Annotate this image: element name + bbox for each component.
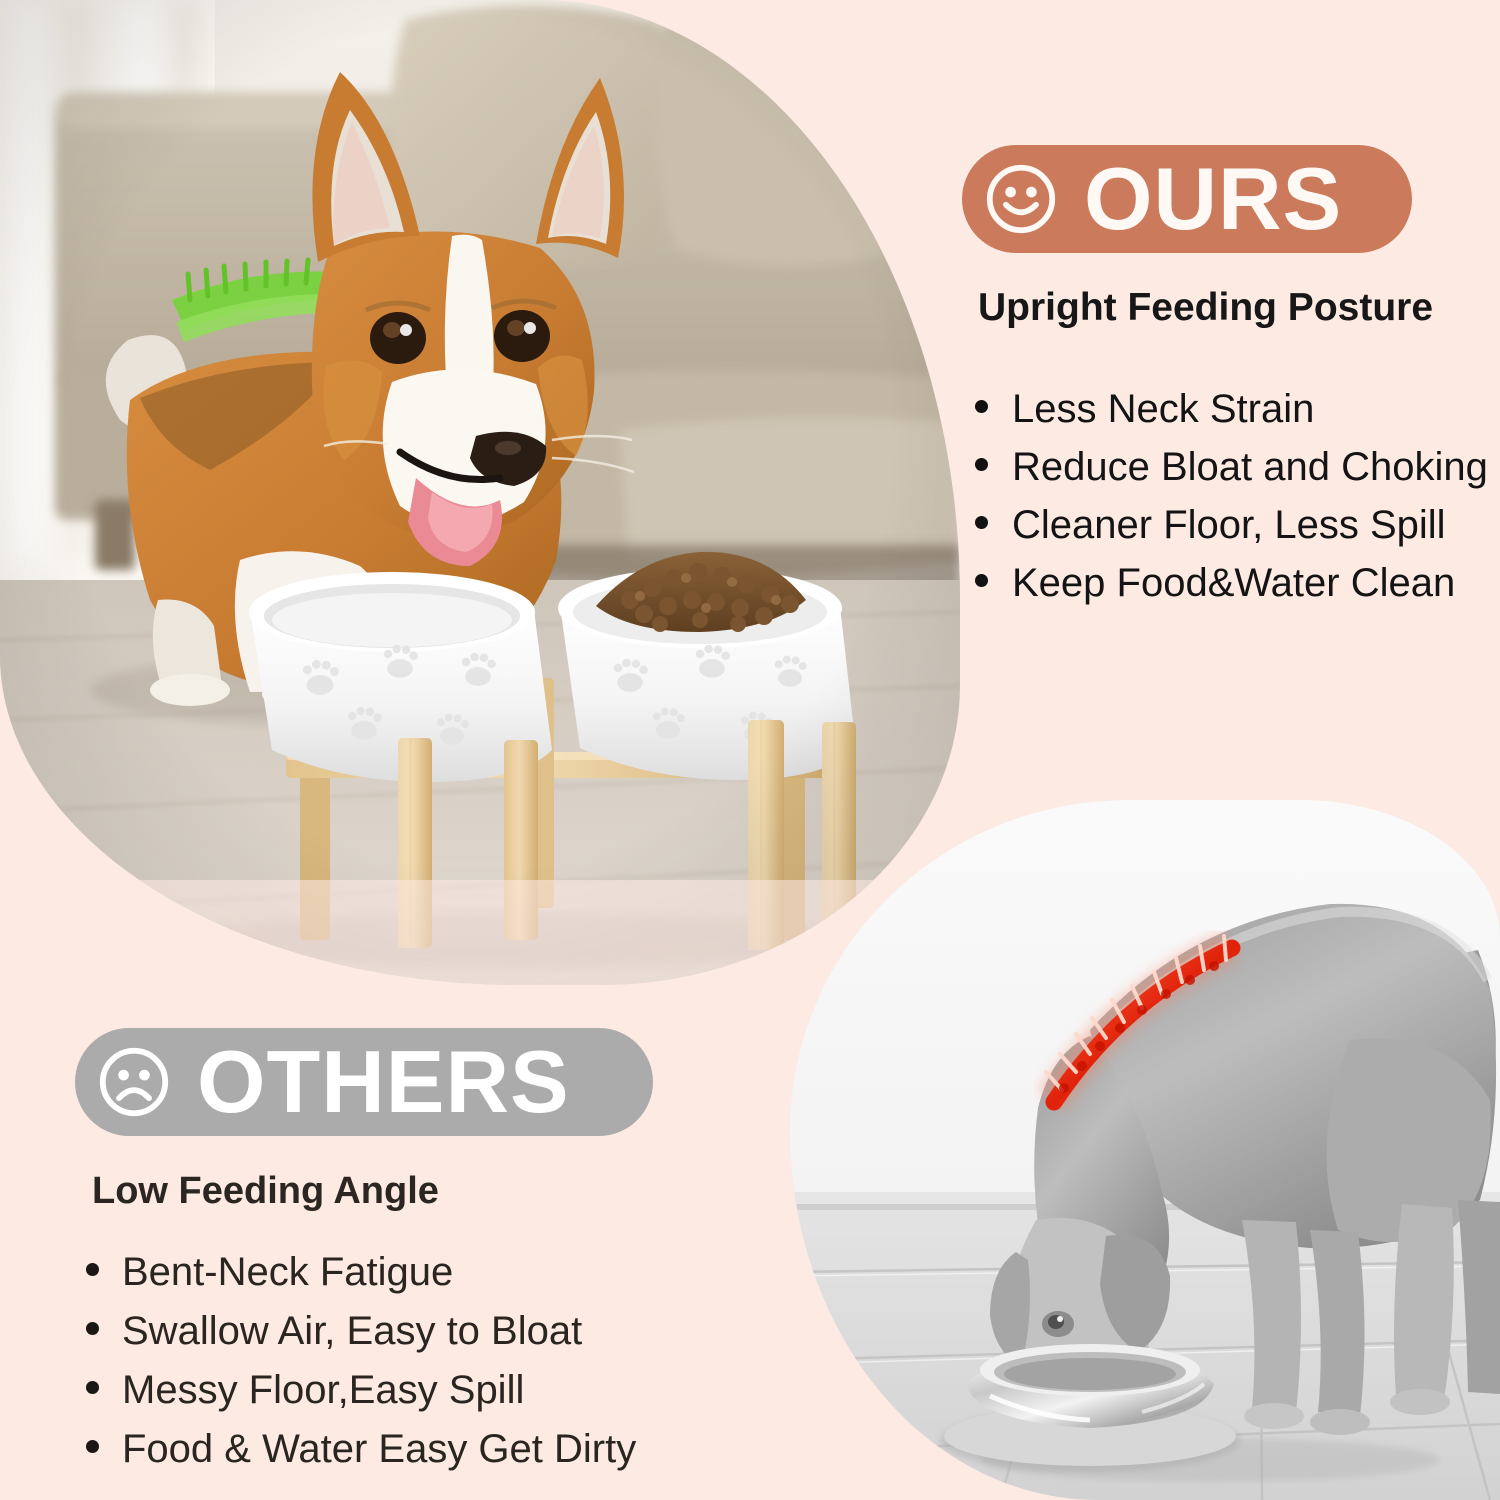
smiley-face-icon bbox=[984, 162, 1058, 236]
list-item-label: Food & Water Easy Get Dirty bbox=[122, 1420, 636, 1479]
bullet-dot-icon bbox=[975, 458, 988, 471]
list-item: Cleaner Floor, Less Spill bbox=[975, 496, 1488, 554]
ours-photo bbox=[0, 0, 960, 985]
list-item-label: Messy Floor,Easy Spill bbox=[122, 1361, 524, 1420]
bullet-dot-icon bbox=[975, 574, 988, 587]
others-badge: OTHERS bbox=[75, 1028, 653, 1136]
list-item-label: Cleaner Floor, Less Spill bbox=[1012, 496, 1446, 554]
list-item: Food & Water Easy Get Dirty bbox=[86, 1420, 636, 1479]
others-heading: Low Feeding Angle bbox=[92, 1172, 439, 1210]
sad-face-icon bbox=[97, 1045, 171, 1119]
list-item: Swallow Air, Easy to Bloat bbox=[86, 1302, 636, 1361]
infographic-canvas: OURS Upright Feeding Posture Less Neck S… bbox=[0, 0, 1500, 1500]
bullet-dot-icon bbox=[86, 1322, 99, 1335]
list-item: Messy Floor,Easy Spill bbox=[86, 1361, 636, 1420]
ours-heading: Upright Feeding Posture bbox=[978, 288, 1433, 327]
bullet-dot-icon bbox=[975, 516, 988, 529]
bullet-dot-icon bbox=[86, 1440, 99, 1453]
bullet-dot-icon bbox=[975, 400, 988, 413]
list-item-label: Swallow Air, Easy to Bloat bbox=[122, 1302, 582, 1361]
list-item: Reduce Bloat and Choking bbox=[975, 438, 1488, 496]
list-item: Less Neck Strain bbox=[975, 380, 1488, 438]
ours-photo-illustration bbox=[0, 0, 960, 985]
ours-benefit-list: Less Neck Strain Reduce Bloat and Chokin… bbox=[975, 380, 1488, 612]
list-item-label: Reduce Bloat and Choking bbox=[1012, 438, 1488, 496]
others-photo bbox=[790, 800, 1500, 1500]
list-item-label: Bent-Neck Fatigue bbox=[122, 1243, 453, 1302]
others-photo-illustration bbox=[790, 800, 1500, 1500]
ours-badge-label: OURS bbox=[1084, 155, 1342, 243]
list-item: Bent-Neck Fatigue bbox=[86, 1243, 636, 1302]
list-item: Keep Food&Water Clean bbox=[975, 554, 1488, 612]
bullet-dot-icon bbox=[86, 1263, 99, 1276]
ours-badge: OURS bbox=[962, 145, 1412, 253]
bullet-dot-icon bbox=[86, 1381, 99, 1394]
others-drawback-list: Bent-Neck Fatigue Swallow Air, Easy to B… bbox=[86, 1243, 636, 1479]
others-badge-label: OTHERS bbox=[197, 1038, 570, 1126]
list-item-label: Keep Food&Water Clean bbox=[1012, 554, 1455, 612]
list-item-label: Less Neck Strain bbox=[1012, 380, 1314, 438]
